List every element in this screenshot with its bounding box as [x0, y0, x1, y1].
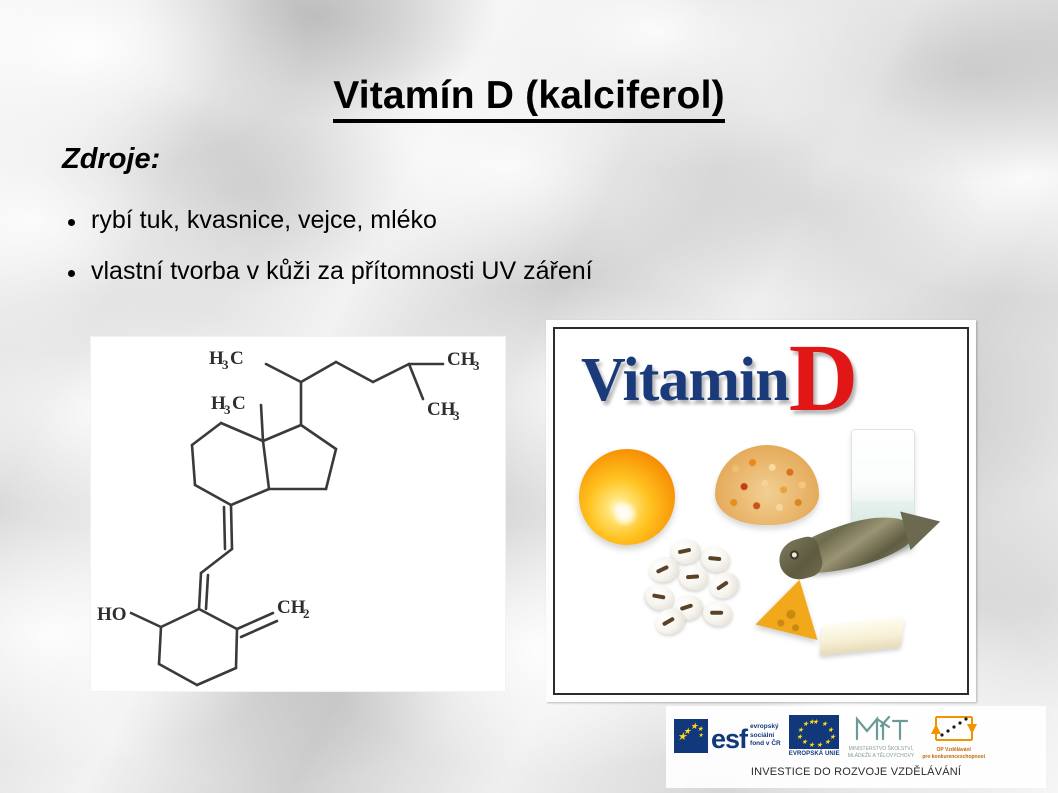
msmt-mark-icon [853, 713, 909, 745]
esf-caption: evropský sociální fond v ČR [750, 723, 781, 749]
page-title: Vitamín D (kalciferol) [0, 74, 1058, 118]
poster-wordmark-text: Vitamin [581, 346, 789, 414]
svg-text:C: C [230, 348, 244, 369]
eu-caption: EVROPSKÁ UNIE [789, 751, 840, 757]
list-item: vlastní tvorba v kůži za přítomnosti UV … [62, 257, 962, 286]
chem-label-ch2: CH [277, 597, 306, 618]
svg-text:3: 3 [473, 358, 480, 373]
bullet-list: rybí tuk, kvasnice, vejce, mléko vlastní… [62, 206, 962, 308]
section-heading: Zdroje: [62, 143, 160, 176]
bullet-dot-icon [68, 219, 75, 226]
msmt-caption-line2: MLÁDEŽE A TĚLOVÝCHOVY [848, 753, 915, 760]
poster-letter-d: D [789, 327, 856, 431]
eu-logo: ★ ★ ★ ★ ★ ★ ★ ★ ★ ★ ★ ★ EVROPSKÁ UNIE [789, 715, 840, 757]
poster-wordmark: VitaminD [581, 345, 856, 416]
bullet-dot-icon [68, 270, 75, 277]
cereal-grains-image [715, 445, 819, 525]
sun-icon [579, 449, 675, 545]
esf-caption-line3: fond v ČR [750, 740, 781, 749]
footer-tagline: INVESTICE DO ROZVOJE VZDĚLÁVÁNÍ [666, 766, 1046, 778]
op-mark-icon [930, 712, 978, 746]
chemical-structure-image: H 3 C CH 3 CH 3 H 3 C CH 2 HO [91, 337, 505, 691]
svg-text:3: 3 [453, 408, 460, 423]
vitamin-d-poster-image: VitaminD [546, 320, 976, 702]
chem-label-ch3-top-right: CH [447, 349, 476, 370]
op-caption-line2: pro konkurenceschopnost [922, 754, 985, 760]
chem-label-ho: HO [97, 604, 127, 625]
esf-wordmark: esf [711, 728, 747, 751]
eu-flag-icon: ★ ★ ★ ★ ★ ★ ★ ★ ★ ★ ★ ★ [789, 715, 839, 749]
list-item-label: rybí tuk, kvasnice, vejce, mléko [91, 206, 437, 235]
slide: Vitamín D (kalciferol) Zdroje: rybí tuk,… [0, 0, 1058, 793]
poster-frame: VitaminD [553, 327, 969, 695]
esf-logo: ★ ★ ★ ★ ★ esf evropský sociální fond v Č… [674, 719, 781, 753]
footer-logo-strip: ★ ★ ★ ★ ★ esf evropský sociální fond v Č… [666, 706, 1046, 788]
msmt-caption-line1: MINISTERSTVO ŠKOLSTVÍ, [848, 746, 915, 753]
esf-caption-line1: evropský [750, 723, 781, 732]
svg-text:C: C [232, 393, 246, 414]
op-logo: OP Vzdělávání pro konkurenceschopnost [922, 712, 985, 760]
logo-row: ★ ★ ★ ★ ★ esf evropský sociální fond v Č… [666, 710, 1046, 762]
svg-text:2: 2 [303, 606, 310, 621]
op-caption: OP Vzdělávání pro konkurenceschopnost [922, 747, 985, 760]
svg-text:3: 3 [224, 402, 231, 417]
chem-label-ch3-right: CH [427, 399, 456, 420]
msmt-logo: MINISTERSTVO ŠKOLSTVÍ, MLÁDEŽE A TĚLOVÝC… [848, 713, 915, 759]
esf-flag-icon: ★ ★ ★ ★ ★ [674, 719, 708, 753]
butter-stick-image [820, 616, 905, 655]
page-title-text: Vitamín D (kalciferol) [333, 74, 725, 123]
list-item-label: vlastní tvorba v kůži za přítomnosti UV … [91, 257, 593, 286]
msmt-caption: MINISTERSTVO ŠKOLSTVÍ, MLÁDEŽE A TĚLOVÝC… [848, 746, 915, 759]
svg-text:3: 3 [222, 357, 229, 372]
beans-image [643, 539, 747, 633]
list-item: rybí tuk, kvasnice, vejce, mléko [62, 206, 962, 235]
